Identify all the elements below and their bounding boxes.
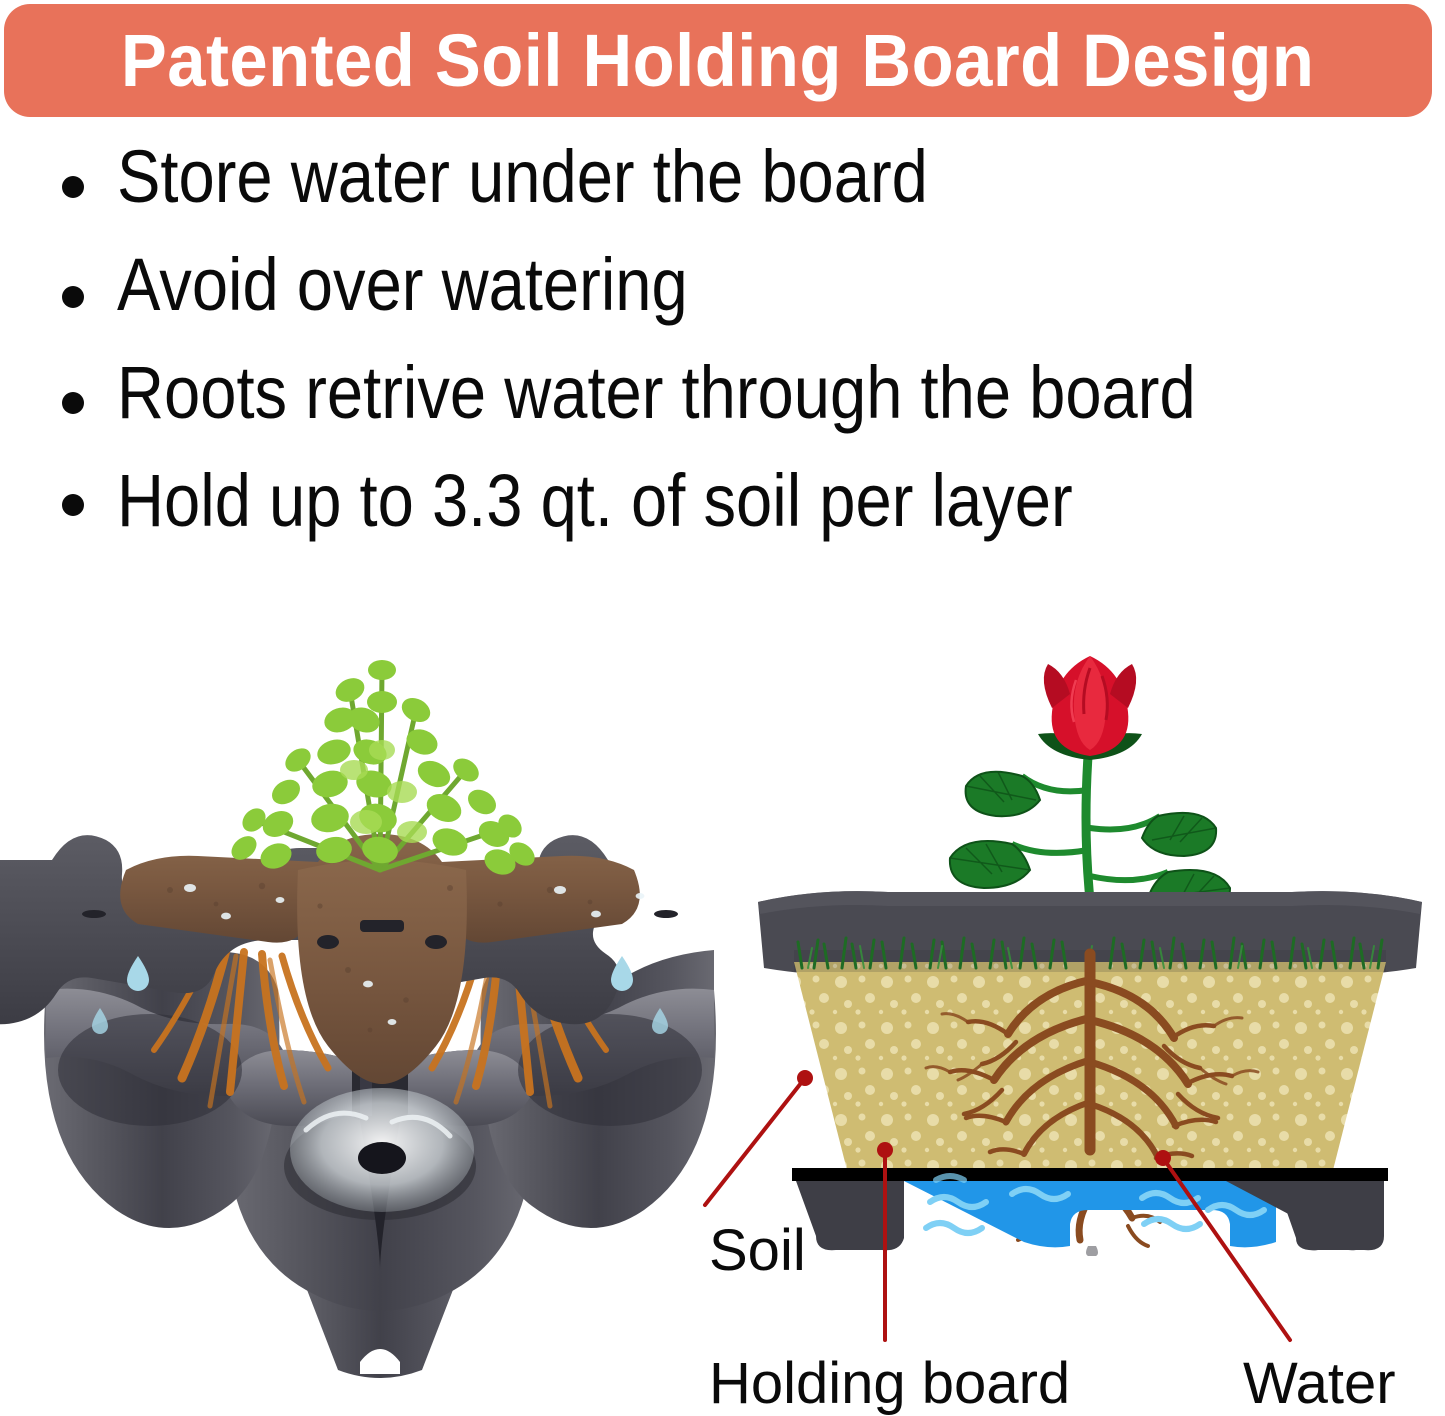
product-photo-stacking-planter [30, 570, 730, 1400]
planter-cross-section-diagram [740, 650, 1440, 1250]
callout-label-water: Water [1243, 1355, 1396, 1413]
bullet-dot-icon [62, 176, 84, 198]
green-plant-foliage [227, 660, 539, 879]
list-item: Roots retrive water through the board [0, 356, 1445, 464]
bullet-dot-icon [62, 494, 84, 516]
list-item-label: Roots retrive water through the board [117, 356, 1196, 430]
page-title: Patented Soil Holding Board Design [121, 24, 1314, 98]
list-item-label: Hold up to 3.3 qt. of soil per layer [117, 464, 1073, 538]
list-item-label: Store water under the board [117, 140, 928, 214]
list-item: Avoid over watering [0, 248, 1445, 356]
callout-label-holding-board: Holding board [709, 1355, 1070, 1413]
bullet-dot-icon [62, 286, 84, 308]
water-reservoir-base [796, 1176, 1384, 1256]
holding-board-line [792, 1168, 1388, 1181]
list-item: Store water under the board [0, 140, 1445, 248]
feature-bullet-list: Store water under the board Avoid over w… [0, 140, 1445, 572]
callout-label-soil: Soil [709, 1222, 806, 1280]
rose-plant-illustration [950, 656, 1230, 918]
bullet-dot-icon [62, 392, 84, 414]
list-item-label: Avoid over watering [117, 248, 688, 322]
header-banner: Patented Soil Holding Board Design [4, 4, 1432, 117]
list-item: Hold up to 3.3 qt. of soil per layer [0, 464, 1445, 572]
